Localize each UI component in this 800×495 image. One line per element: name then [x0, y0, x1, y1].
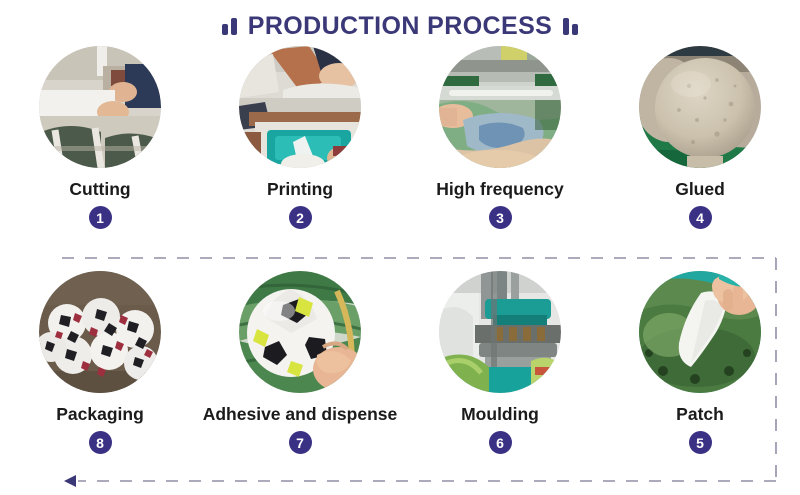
- photo-patch-icon: [639, 271, 761, 393]
- photo-packaging-icon: [39, 271, 161, 393]
- photo-cutting-icon: [39, 46, 161, 168]
- step-badge: 1: [89, 206, 112, 229]
- step-badge: 2: [289, 206, 312, 229]
- photo-glued-icon: [639, 46, 761, 168]
- process-step-glued[interactable]: Glued 4: [600, 46, 800, 229]
- step-label: Cutting: [69, 179, 130, 199]
- step-label: High frequency: [436, 179, 563, 199]
- photo-highfreq-icon: [439, 46, 561, 168]
- step-label: Patch: [676, 404, 724, 424]
- step-badge: 5: [689, 431, 712, 454]
- flow-arrow-head-icon: [64, 475, 76, 487]
- title-left-marks-icon: [222, 17, 237, 35]
- page-title-bar: PRODUCTION PROCESS: [0, 8, 800, 44]
- process-step-adhesive-and-dispense[interactable]: Adhesive and dispense 7: [200, 271, 400, 454]
- process-step-cutting[interactable]: Cutting 1: [0, 46, 200, 229]
- step-label: Glued: [675, 179, 725, 199]
- step-label: Adhesive and dispense: [203, 404, 398, 424]
- photo-printing-icon: [239, 46, 361, 168]
- process-step-high-frequency[interactable]: High frequency 3: [400, 46, 600, 229]
- process-step-packaging[interactable]: Packaging 8: [0, 271, 200, 454]
- page-title: PRODUCTION PROCESS: [248, 12, 552, 41]
- step-label: Moulding: [461, 404, 539, 424]
- step-label: Packaging: [56, 404, 144, 424]
- photo-moulding-icon: [439, 271, 561, 393]
- step-badge: 3: [489, 206, 512, 229]
- process-row-top: Cutting 1: [0, 46, 800, 229]
- process-row-bottom: Packaging 8: [0, 271, 800, 454]
- photo-adhesive-icon: [239, 271, 361, 393]
- step-badge: 4: [689, 206, 712, 229]
- process-step-printing[interactable]: Printing 2: [200, 46, 400, 229]
- step-badge: 7: [289, 431, 312, 454]
- process-step-moulding[interactable]: Moulding 6: [400, 271, 600, 454]
- process-step-patch[interactable]: Patch 5: [600, 271, 800, 454]
- step-badge: 6: [489, 431, 512, 454]
- title-right-marks-icon: [563, 17, 578, 35]
- step-label: Printing: [267, 179, 333, 199]
- step-badge: 8: [89, 431, 112, 454]
